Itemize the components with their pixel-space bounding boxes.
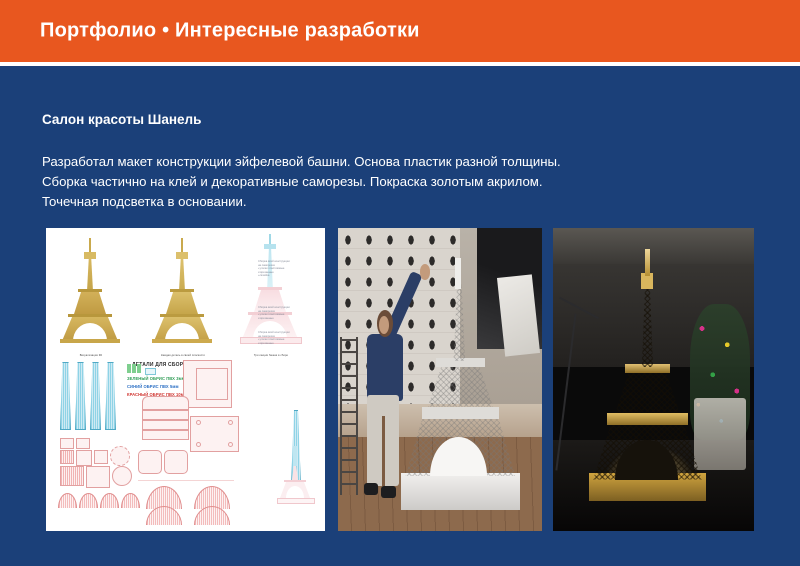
photo-gold-painted-tower [553, 228, 754, 531]
photo-unpainted-tower-with-person [338, 228, 542, 531]
header-divider [0, 62, 800, 66]
part-hole-4 [228, 442, 233, 447]
legend-swatch-green [127, 364, 131, 373]
caption-3d: Визуализация 3D [54, 354, 128, 357]
arch-small-2 [79, 493, 98, 508]
person-shoe-right [381, 486, 396, 498]
part-small-5 [94, 450, 108, 464]
part-corner-2 [164, 450, 188, 474]
panel-photo-unpainted[interactable] [338, 228, 542, 531]
description-line-1: Разработал макет конструкции эйфелевой б… [42, 152, 742, 172]
caption-sections: Три секции башни в сборе [234, 354, 308, 357]
arch-small-4 [121, 493, 140, 508]
annotation-top: Сборка всей конструкциина саморезах +уго… [258, 260, 320, 278]
part-hole-3 [196, 442, 201, 447]
project-description: Разработал макет конструкции эйфелевой б… [42, 152, 742, 212]
caption-flat: Каждая деталь в своей плоскости [146, 354, 220, 357]
part-small-1 [60, 438, 74, 449]
guide-line-1 [138, 480, 234, 481]
part-plate-2 [142, 420, 189, 430]
room-ceiling [553, 228, 754, 264]
gold-tower-mid [615, 370, 679, 412]
part-small-6 [60, 466, 84, 486]
person-leg-gap [382, 416, 385, 486]
person-shoe-left [364, 483, 378, 495]
header-bar: Портфолио • Интересные разработки [0, 0, 800, 62]
tower-first-deck [422, 407, 500, 419]
gold-tower-spire [645, 249, 650, 276]
tower-render-3d: Визуализация 3D [54, 234, 128, 352]
tower-render-flat: Каждая деталь в своей плоскости [146, 234, 220, 352]
legend-chip-blue [145, 368, 156, 375]
tower-base-plinth [401, 473, 519, 509]
part-plate-1 [142, 410, 189, 420]
tower-spire [455, 258, 461, 288]
part-box-1-inner [196, 368, 228, 400]
part-small-3 [60, 450, 74, 464]
part-strip-1 [60, 362, 71, 430]
page-title: Портфолио • Интересные разработки [40, 20, 420, 43]
part-corner-1 [138, 450, 162, 474]
part-circle-2 [112, 466, 132, 486]
part-strip-2 [75, 362, 86, 430]
arch-small-1 [58, 493, 77, 508]
annotation-middle: Сборка всей конструкциина саморезах +уго… [258, 306, 320, 320]
part-strip-4 [105, 362, 116, 430]
part-small-7 [86, 466, 110, 488]
part-hole-1 [196, 420, 201, 425]
part-small-4 [76, 450, 92, 466]
person-torso [367, 334, 404, 401]
part-plate-arcs [142, 396, 189, 410]
project-subtitle: Салон красоты Шанель [42, 112, 201, 127]
arch-small-3 [100, 493, 119, 508]
description-line-2: Сборка частично на клей и декоративные с… [42, 172, 742, 192]
part-hole-2 [228, 420, 233, 425]
part-small-2 [76, 438, 90, 449]
panel-technical-drawing[interactable]: Визуализация 3D Каждая деталь в своей пл… [46, 228, 325, 531]
legend-swatch-green-3 [137, 364, 141, 373]
white-chair [694, 398, 746, 471]
legend-blue: СИНИЙ ОБРИС ПВХ 5мм [127, 384, 179, 389]
part-circle-1 [110, 446, 130, 466]
annotation-bottom: Сборка всей конструкциина саморезах +уго… [258, 331, 320, 345]
drawing-canvas: Визуализация 3D Каждая деталь в своей пл… [46, 228, 325, 531]
part-plate-3 [142, 430, 189, 440]
person-hand [420, 264, 430, 279]
legend-green: ЗЕЛЕНЫЙ ОБРИС ПВХ 3мм [127, 376, 185, 381]
description-line-3: Точечная подсветка в основании. [42, 192, 742, 212]
legend-swatch-green-2 [132, 364, 136, 373]
mini-tower-preview [274, 446, 316, 506]
gold-tower-first-deck [607, 413, 687, 425]
ladder [340, 337, 358, 495]
panel-photo-gold[interactable] [553, 228, 754, 531]
part-strip-3 [90, 362, 101, 430]
slide: Портфолио • Интересные разработки Салон … [0, 0, 800, 566]
